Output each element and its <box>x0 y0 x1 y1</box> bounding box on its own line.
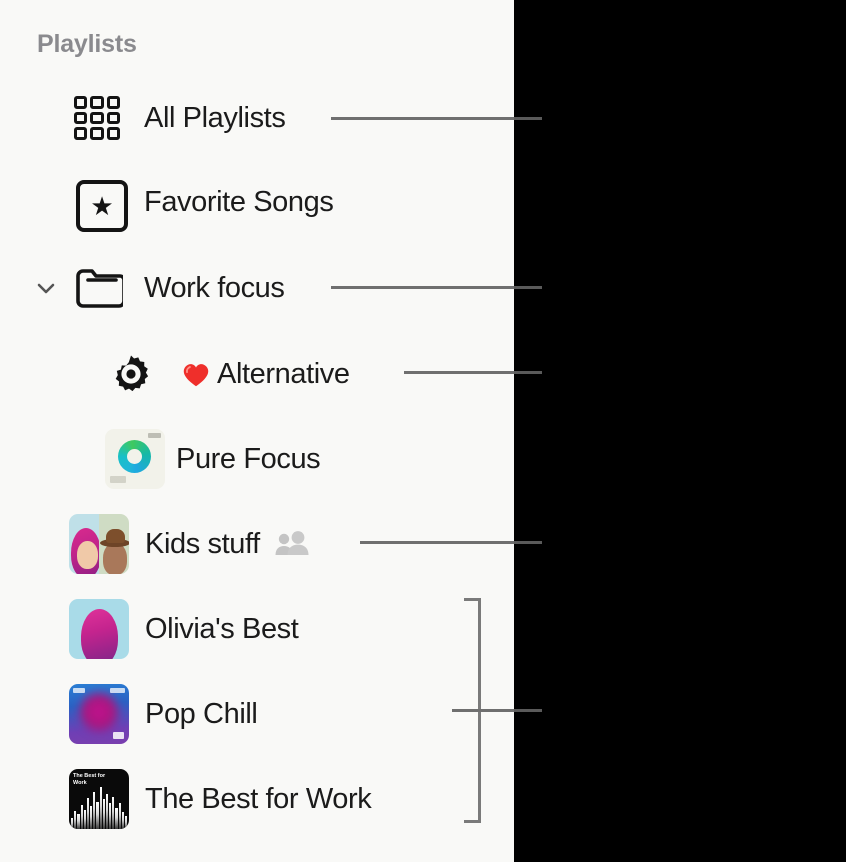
sidebar-item-label: All Playlists <box>144 102 285 135</box>
callout-line-kids-stuff-shared-ext <box>514 541 542 544</box>
sidebar-item-pop-chill[interactable]: Pop Chill <box>0 682 514 746</box>
callout-line-playlist-group <box>452 709 514 712</box>
section-header-playlists: Playlists <box>37 30 137 59</box>
callout-line-playlist-group-ext <box>514 709 542 712</box>
sidebar-item-label: Pop Chill <box>145 698 257 731</box>
sidebar-item-label: Kids stuff <box>145 528 260 561</box>
album-art-pop-chill <box>69 684 129 744</box>
sidebar-item-kids-stuff[interactable]: Kids stuff <box>0 512 514 576</box>
gear-icon[interactable] <box>112 355 150 393</box>
sidebar-item-label: Work focus <box>144 272 285 305</box>
album-art-best-for-work: The Best for Work <box>69 769 129 829</box>
album-art-pure-focus <box>105 429 165 489</box>
grid-icon <box>74 96 120 140</box>
avatar-olivia <box>69 599 129 659</box>
sidebar-item-label: The Best for Work <box>145 783 371 816</box>
sidebar-item-label: Pure Focus <box>176 443 320 476</box>
avatar-kids-stuff <box>69 514 129 574</box>
sidebar-item-olivias-best[interactable]: Olivia's Best <box>0 597 514 661</box>
artwork-title: The Best for Work <box>73 773 113 786</box>
callout-line-all-playlists <box>331 117 514 120</box>
sidebar-item-label: Favorite Songs <box>144 186 333 219</box>
chevron-down-icon[interactable] <box>34 276 58 300</box>
callout-line-kids-stuff-shared <box>360 541 514 544</box>
shared-people-icon <box>274 531 310 557</box>
sidebar-item-label: Olivia's Best <box>145 613 298 646</box>
callout-line-alternative-ext <box>514 371 542 374</box>
sidebar-item-label: Alternative <box>217 358 350 391</box>
callout-line-work-focus <box>331 286 514 289</box>
sidebar-item-alternative[interactable]: Alternative <box>0 342 514 406</box>
sidebar-item-the-best-for-work[interactable]: The Best for Work The Best for Work <box>0 767 514 831</box>
sidebar-item-pure-focus[interactable]: Pure Focus <box>0 427 514 491</box>
red-heart-emoji <box>181 359 211 389</box>
star-square-icon: ★ <box>76 180 128 232</box>
sidebar-item-favorite-songs[interactable]: ★ Favorite Songs <box>0 170 514 234</box>
callout-line-work-focus-ext <box>514 286 542 289</box>
playlists-sidebar-panel: Playlists All Playlists ★ Favorite Songs <box>0 0 514 862</box>
callout-line-all-playlists-ext <box>514 117 542 120</box>
folder-icon <box>75 266 123 308</box>
callout-line-alternative <box>404 371 514 374</box>
